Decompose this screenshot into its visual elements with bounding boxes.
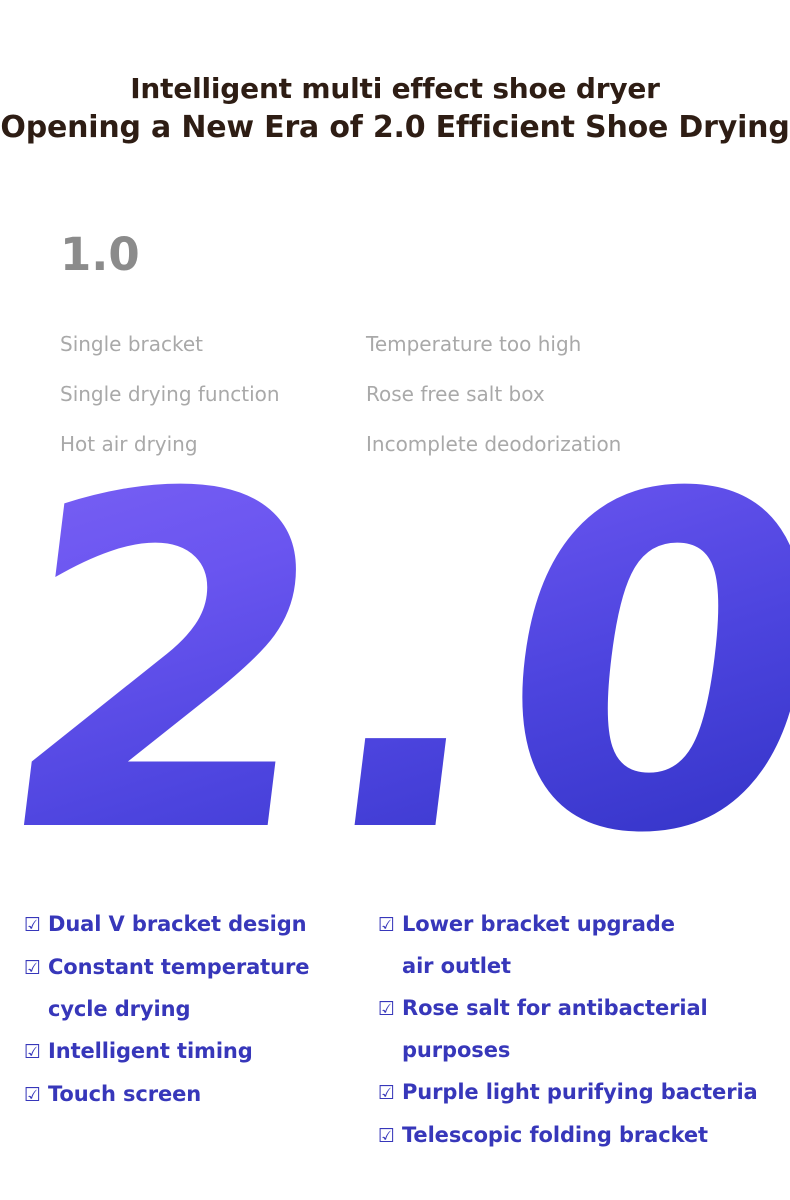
version-1-number: 1.0 xyxy=(60,232,790,277)
checked-box-icon: ☑ xyxy=(378,988,402,1030)
version-2-big-numeral-icon: 2.0 xyxy=(0,470,790,890)
version-1-item: Temperature too high xyxy=(366,319,790,369)
header-title-line-2: Opening a New Era of 2.0 Efficient Shoe … xyxy=(0,108,790,149)
checked-box-icon: ☑ xyxy=(378,1072,402,1114)
version-1-item: Hot air drying xyxy=(60,419,366,469)
feature-item: ☑ Touch screen xyxy=(24,1073,365,1116)
header-title-line-1: Intelligent multi effect shoe dryer xyxy=(0,70,790,108)
feature-item: ☑ Constant temperature cycle drying xyxy=(24,946,365,1030)
version-1-item: Single drying function xyxy=(60,369,366,419)
checked-box-icon: ☑ xyxy=(378,1115,402,1157)
feature-label: Rose salt for antibacterial purposes xyxy=(402,987,708,1071)
feature-label-line-1: Dual V bracket design xyxy=(48,912,306,936)
feature-label-line-1: Touch screen xyxy=(48,1082,201,1106)
checked-box-icon: ☑ xyxy=(378,904,402,946)
feature-label-line-1: Telescopic folding bracket xyxy=(402,1123,708,1147)
feature-label-line-1: Constant temperature xyxy=(48,955,309,979)
feature-item: ☑ Telescopic folding bracket xyxy=(378,1114,790,1157)
feature-label-line-1: Lower bracket upgrade xyxy=(402,912,675,936)
hero-version-2-graphic: 2.0 xyxy=(0,470,790,890)
feature-label: Telescopic folding bracket xyxy=(402,1114,708,1156)
feature-label-line-1: Rose salt for antibacterial xyxy=(402,996,708,1020)
feature-label: Touch screen xyxy=(48,1073,201,1115)
feature-label-line-1: Intelligent timing xyxy=(48,1039,253,1063)
feature-label: Intelligent timing xyxy=(48,1030,253,1072)
checked-box-icon: ☑ xyxy=(24,947,48,989)
feature-label-line-2: purposes xyxy=(402,1029,708,1071)
version-2-text: 2.0 xyxy=(0,470,790,890)
feature-label-line-2: cycle drying xyxy=(48,988,309,1030)
version-1-right-column: Temperature too high Rose free salt box … xyxy=(366,319,790,469)
version-1-item: Single bracket xyxy=(60,319,366,369)
feature-label: Dual V bracket design xyxy=(48,903,306,945)
version-1-left-column: Single bracket Single drying function Ho… xyxy=(0,319,366,469)
version-1-columns: Single bracket Single drying function Ho… xyxy=(0,319,790,469)
page-header: Intelligent multi effect shoe dryer Open… xyxy=(0,70,790,149)
feature-label: Purple light purifying bacteria xyxy=(402,1071,758,1113)
feature-label-line-1: Purple light purifying bacteria xyxy=(402,1080,758,1104)
feature-item: ☑ Purple light purifying bacteria xyxy=(378,1071,790,1114)
version-1-item: Incomplete deodorization xyxy=(366,419,790,469)
checked-box-icon: ☑ xyxy=(24,904,48,946)
feature-label: Constant temperature cycle drying xyxy=(48,946,309,1030)
feature-label-line-2: air outlet xyxy=(402,945,675,987)
features-left-column: ☑ Dual V bracket design ☑ Constant tempe… xyxy=(0,903,365,1157)
feature-item: ☑ Rose salt for antibacterial purposes xyxy=(378,987,790,1071)
checked-box-icon: ☑ xyxy=(24,1031,48,1073)
feature-item: ☑ Intelligent timing xyxy=(24,1030,365,1073)
version-1-section: 1.0 Single bracket Single drying functio… xyxy=(0,232,790,469)
version-1-item: Rose free salt box xyxy=(366,369,790,419)
checked-box-icon: ☑ xyxy=(24,1074,48,1116)
feature-item: ☑ Lower bracket upgrade air outlet xyxy=(378,903,790,987)
feature-item: ☑ Dual V bracket design xyxy=(24,903,365,946)
features-right-column: ☑ Lower bracket upgrade air outlet ☑ Ros… xyxy=(365,903,790,1157)
features-section: ☑ Dual V bracket design ☑ Constant tempe… xyxy=(0,903,790,1157)
feature-label: Lower bracket upgrade air outlet xyxy=(402,903,675,987)
